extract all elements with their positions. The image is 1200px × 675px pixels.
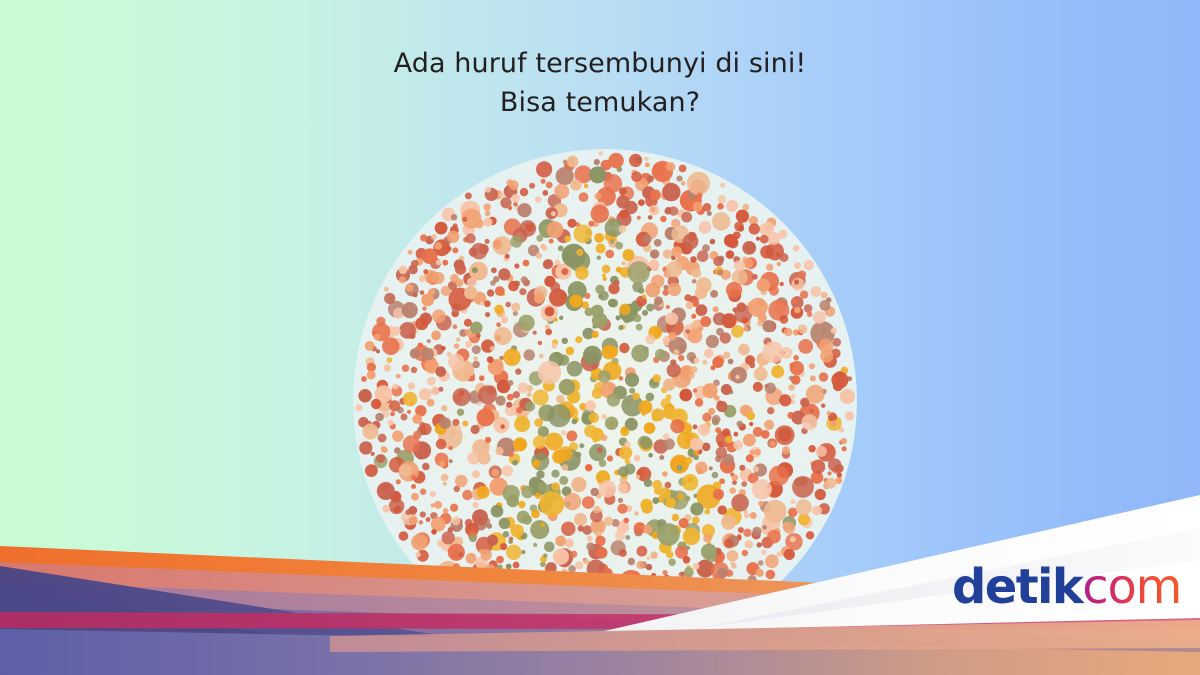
- headline-line-2: Bisa temukan?: [0, 83, 1200, 122]
- ishihara-plate: [352, 148, 858, 654]
- headline-line-1: Ada huruf tersembunyi di sini!: [0, 44, 1200, 83]
- page-title: Ada huruf tersembunyi di sini! Bisa temu…: [0, 44, 1200, 122]
- logo-text-com: com: [1082, 559, 1181, 615]
- slide-canvas: Ada huruf tersembunyi di sini! Bisa temu…: [0, 0, 1200, 675]
- ishihara-plate-svg: [352, 148, 858, 654]
- detikcom-logo[interactable]: detikcom: [952, 563, 1181, 611]
- logo-text-detik: detik: [952, 559, 1082, 615]
- slate-purple-wedge-2: [0, 586, 330, 645]
